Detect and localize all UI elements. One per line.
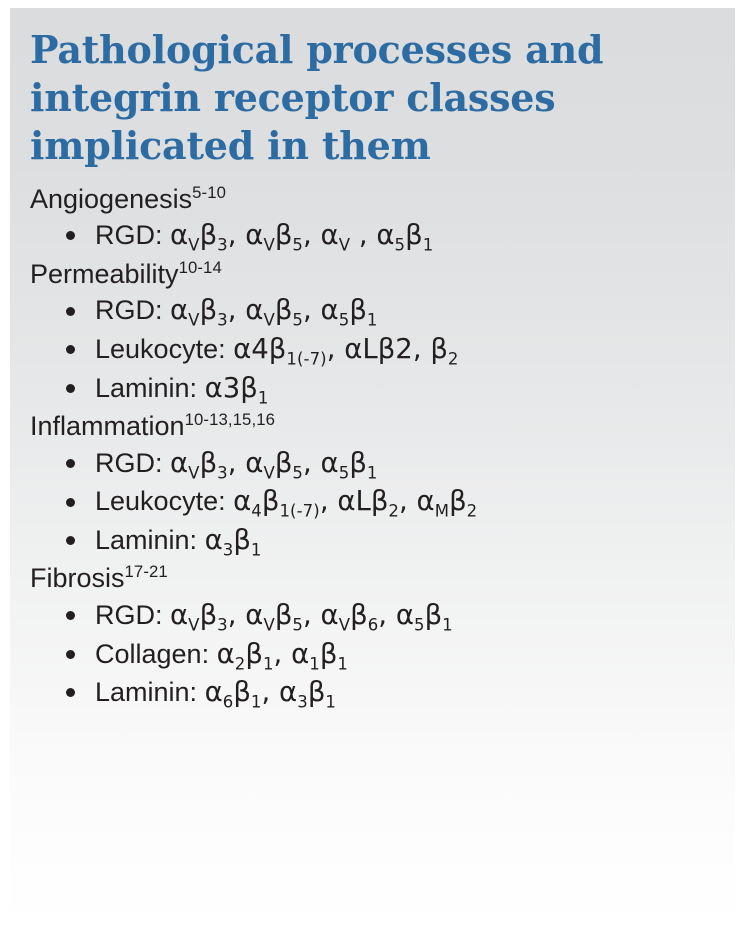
process-name: Inflammation [30, 411, 185, 441]
list-item: Laminin: α3β1 [30, 521, 721, 560]
process-references: 17-21 [125, 562, 168, 581]
process-references: 10-14 [179, 258, 222, 277]
receptor-formula: αVβ3, αVβ5, α5β1 [170, 294, 377, 326]
receptor-formula: αVβ3, αVβ5, αVβ6, α5β1 [170, 599, 453, 631]
bullet-icon [66, 459, 75, 468]
receptor-class-label: Laminin: [95, 525, 197, 555]
list-item: RGD: αVβ3, αVβ5, αV , α5β1 [30, 216, 721, 255]
list-item: RGD: αVβ3, αVβ5, αVβ6, α5β1 [30, 596, 721, 635]
receptor-class-label: Collagen: [95, 639, 209, 669]
receptor-class-label: RGD: [95, 448, 163, 478]
bullet-icon [66, 384, 75, 393]
receptor-formula: α3β1 [205, 372, 269, 404]
receptor-formula: α4β1(-7), αLβ2, αMβ2 [233, 485, 477, 517]
receptor-list: RGD: αVβ3, αVβ5, α5β1Leukocyte: α4β1(-7)… [30, 291, 721, 407]
process-name: Angiogenesis [30, 184, 192, 214]
bullet-icon [66, 650, 75, 659]
list-item: Collagen: α2β1, α1β1 [30, 635, 721, 674]
page-root: Pathological processes and integrin rece… [0, 0, 750, 927]
list-item: Laminin: α6β1, α3β1 [30, 673, 721, 712]
process-list: Angiogenesis5-10RGD: αVβ3, αVβ5, αV , α5… [30, 180, 721, 712]
process-references: 10-13,15,16 [185, 410, 275, 429]
receptor-formula: α6β1, α3β1 [205, 676, 336, 708]
receptor-formula: α2β1, α1β1 [217, 638, 348, 670]
bullet-icon [66, 307, 75, 316]
receptor-class-label: RGD: [95, 220, 163, 250]
process-heading: Fibrosis17-21 [30, 559, 721, 596]
bullet-icon [66, 231, 75, 240]
process-heading: Inflammation10-13,15,16 [30, 407, 721, 444]
bullet-icon [66, 688, 75, 697]
receptor-formula: α3β1 [205, 524, 262, 556]
receptor-class-label: Laminin: [95, 373, 197, 403]
receptor-class-label: Leukocyte: [95, 486, 226, 516]
receptor-list: RGD: αVβ3, αVβ5, αVβ6, α5β1Collagen: α2β… [30, 596, 721, 712]
receptor-formula: αVβ3, αVβ5, α5β1 [170, 447, 377, 479]
list-item: Leukocyte: α4β1(-7), αLβ2, αMβ2 [30, 482, 721, 521]
receptor-class-label: Leukocyte: [95, 334, 226, 364]
list-item: RGD: αVβ3, αVβ5, α5β1 [30, 444, 721, 483]
process-heading: Permeability10-14 [30, 255, 721, 292]
info-card: Pathological processes and integrin rece… [10, 8, 735, 927]
receptor-class-label: RGD: [95, 600, 163, 630]
receptor-list: RGD: αVβ3, αVβ5, αV , α5β1 [30, 216, 721, 255]
receptor-formula: αVβ3, αVβ5, αV , α5β1 [170, 219, 433, 251]
bullet-icon [66, 345, 75, 354]
list-item: Leukocyte: α4β1(-7), αLβ2, β2 [30, 330, 721, 369]
receptor-formula: α4β1(-7), αLβ2, β2 [233, 333, 458, 365]
card-content: Pathological processes and integrin rece… [10, 8, 735, 927]
page-title: Pathological processes and integrin rece… [30, 26, 680, 170]
bullet-icon [66, 498, 75, 507]
process-heading: Angiogenesis5-10 [30, 180, 721, 217]
bullet-icon [66, 611, 75, 620]
process-name: Permeability [30, 259, 179, 289]
bullet-icon [66, 536, 75, 545]
list-item: RGD: αVβ3, αVβ5, α5β1 [30, 291, 721, 330]
receptor-class-label: RGD: [95, 295, 163, 325]
process-references: 5-10 [192, 183, 226, 202]
receptor-class-label: Laminin: [95, 677, 197, 707]
receptor-list: RGD: αVβ3, αVβ5, α5β1Leukocyte: α4β1(-7)… [30, 444, 721, 560]
process-name: Fibrosis [30, 563, 125, 593]
list-item: Laminin: α3β1 [30, 369, 721, 408]
